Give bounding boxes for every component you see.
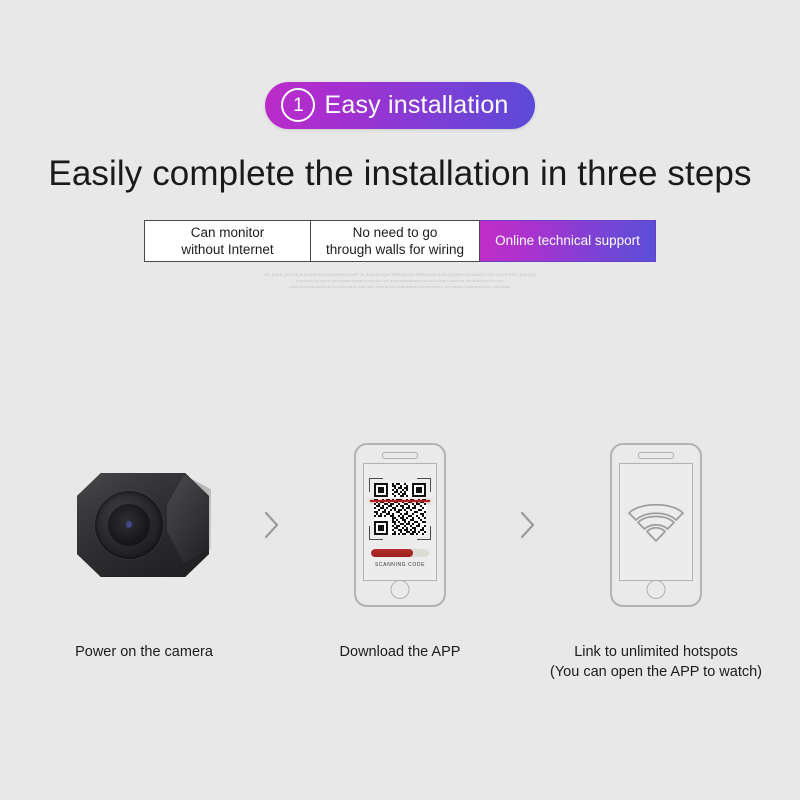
feature-box-monitor[interactable]: Can monitor without Internet [144,220,311,262]
step-link-hotspot: Link to unlimited hotspots (You can open… [550,430,762,683]
camera-lens-outer [95,491,163,559]
qr-scan-line [370,500,430,502]
camera-visual [69,430,219,620]
step-download-app: SCANNING CODE Download the APP [294,430,506,662]
feature-line-1: No need to go [353,225,438,240]
step-arrow-2 [506,430,550,620]
qr-code-icon [374,483,426,535]
feature-box-wiring-text: No need to go through walls for wiring [326,224,464,259]
caption-main: Link to unlimited hotspots [574,644,738,660]
phone-wifi-visual [610,430,702,620]
phone-home-button[interactable] [391,580,410,599]
qr-scan-area [369,478,431,540]
feature-box-support[interactable]: Online technical support [480,220,656,262]
feature-line-2: through walls for wiring [326,242,464,257]
feature-line-2: without Internet [181,242,273,257]
feature-line-1: Can monitor [191,225,265,240]
step-power-on-camera: Power on the camera [38,430,250,662]
feature-box-support-text: Online technical support [495,232,640,249]
phone-screen-wifi [619,463,693,581]
scan-status-label: SCANNING CODE [375,562,425,568]
camera-lens-glint [126,521,132,528]
feature-box-wiring[interactable]: No need to go through walls for wiring [311,220,480,262]
step-badge[interactable]: 1 Easy installation [265,82,534,129]
fineprint-line-3: KONQRUVCHEQERLELFJ.QLSQBLIMFIQ.GMFCIRKLN… [225,285,575,291]
step-number: 1 [281,88,315,122]
caption-main: Power on the camera [75,644,213,660]
fineprint-block: OS, MODE: AG257B, B-NECHNDEX1CHMCIDER DE… [225,273,575,290]
camera-lens-inner [108,504,150,546]
feature-box-group: Can monitor without Internet No need to … [0,220,800,262]
phone-outline-qr: SCANNING CODE [354,443,446,607]
wifi-icon [626,499,686,545]
step-caption-hotspot: Link to unlimited hotspots (You can open… [550,642,762,683]
phone-speaker [638,452,674,459]
phone-screen-qr: SCANNING CODE [363,463,437,581]
step-caption-camera: Power on the camera [75,642,213,662]
caption-sub: (You can open the APP to watch) [550,662,762,682]
chevron-right-icon [263,510,281,540]
phone-qr-visual: SCANNING CODE [354,430,446,620]
page-title: Easily complete the installation in thre… [0,154,800,194]
feature-box-monitor-text: Can monitor without Internet [181,224,273,259]
phone-speaker [382,452,418,459]
step-badge-label: Easy installation [324,91,508,120]
phone-home-button[interactable] [647,580,666,599]
step-badge-row: 1 Easy installation [0,0,800,129]
promo-page: { "badge": { "number": "1", "label": "Ea… [0,0,800,800]
chevron-right-icon [519,510,537,540]
scan-progress-fill [371,549,413,557]
scan-progress-bar [371,549,429,557]
caption-main: Download the APP [340,644,461,660]
phone-outline-wifi [610,443,702,607]
step-arrow-1 [250,430,294,620]
step-caption-download: Download the APP [340,642,461,662]
mini-camera-icon [69,465,219,585]
installation-steps: Power on the camera [0,430,800,683]
